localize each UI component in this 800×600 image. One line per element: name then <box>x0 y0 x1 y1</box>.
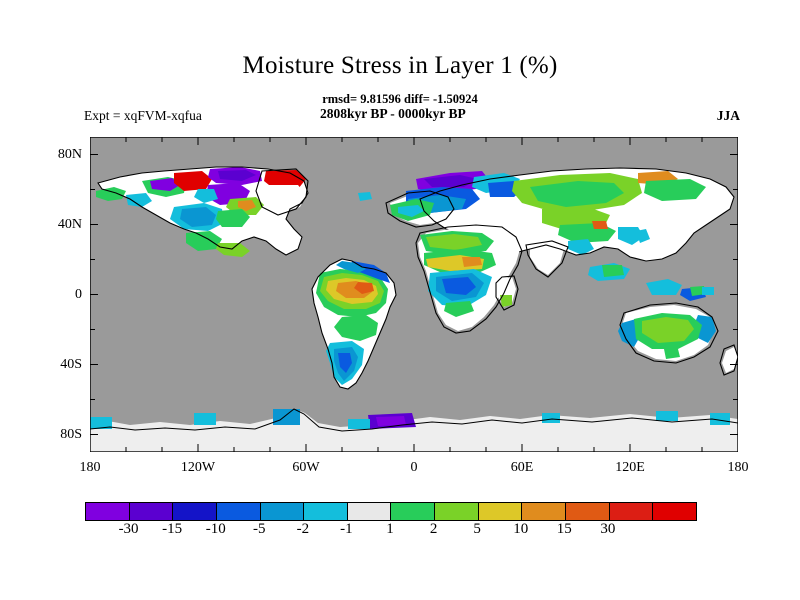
north-pacific-island-a <box>702 287 714 295</box>
colorbar-cell-dark-orange[interactable] <box>565 503 609 520</box>
y-tick-label: 80S <box>38 427 82 443</box>
period-label: 2808kyr BP - 0000kyr BP <box>320 106 466 122</box>
map-plot-area <box>90 137 738 452</box>
y-tick-label: 40N <box>38 217 82 233</box>
colorbar-cell-cyan[interactable] <box>303 503 347 520</box>
china-orange-spot <box>592 221 608 229</box>
antarctica-cyan-patch-f <box>656 411 678 421</box>
x-tick-label: 120W <box>181 460 215 476</box>
colorbar-cell-violet[interactable] <box>86 503 129 520</box>
colorbar-tick-label: -30 <box>119 521 139 538</box>
colorbar-tick-label: -1 <box>340 521 353 538</box>
colorbar-cell-red[interactable] <box>609 503 653 520</box>
colorbar[interactable] <box>85 502 697 521</box>
season-label: JJA <box>717 108 740 124</box>
colorbar-cell-yellow-green[interactable] <box>434 503 478 520</box>
x-tick-label: 180 <box>728 460 749 476</box>
world-anomaly-map <box>90 137 738 452</box>
antarctica-violet-core <box>376 416 406 426</box>
x-tick-label: 180 <box>80 460 101 476</box>
colorbar-tick-label: -2 <box>297 521 310 538</box>
x-tick-label: 120E <box>615 460 645 476</box>
x-tick-label: 60E <box>511 460 534 476</box>
antarctica-cyan-patch-e <box>542 413 560 423</box>
colorbar-cell-gold[interactable] <box>478 503 522 520</box>
y-tick-label: 40S <box>38 357 82 373</box>
page-title: Moisture Stress in Layer 1 (%) <box>0 52 800 80</box>
antarctica-cyan-patch-c <box>273 409 300 425</box>
x-tick-label: 60W <box>292 460 319 476</box>
y-tick-label: 0 <box>38 287 82 303</box>
colorbar-tick-label: 15 <box>557 521 572 538</box>
colorbar-tick-label: 5 <box>473 521 481 538</box>
colorbar-tick-label: 1 <box>386 521 394 538</box>
colorbar-cell-blue[interactable] <box>216 503 260 520</box>
x-tick-label: 0 <box>411 460 418 476</box>
colorbar-cell-light-gray[interactable] <box>347 503 391 520</box>
colorbar-tick-label: 10 <box>513 521 528 538</box>
antarctica-cyan-patch-b <box>194 413 216 425</box>
colorbar-tick-label: -5 <box>253 521 266 538</box>
colorbar-cell-orange[interactable] <box>521 503 565 520</box>
colorbar-tick-label: 2 <box>430 521 438 538</box>
experiment-label: Expt = xqFVM-xqfua <box>84 108 202 124</box>
figure-canvas: Moisture Stress in Layer 1 (%) rmsd= 9.8… <box>0 0 800 600</box>
colorbar-tick-label: 30 <box>600 521 615 538</box>
statistics-line: rmsd= 9.81596 diff= -1.50924 <box>0 92 800 107</box>
colorbar-cell-medium-blue[interactable] <box>260 503 304 520</box>
colorbar-tick-labels: -30-15-10-5-2-1125101530 <box>85 521 695 541</box>
colorbar-cell-dark-blue[interactable] <box>172 503 216 520</box>
y-tick-label: 80N <box>38 147 82 163</box>
antarctica-cyan-patch-d <box>348 419 370 429</box>
colorbar-cell-green[interactable] <box>390 503 434 520</box>
colorbar-tick-label: -10 <box>206 521 226 538</box>
sea-islands-green <box>602 265 624 277</box>
colorbar-tick-label: -15 <box>162 521 182 538</box>
colorbar-cell-purple[interactable] <box>129 503 173 520</box>
colorbar-cell-bright-red[interactable] <box>652 503 696 520</box>
